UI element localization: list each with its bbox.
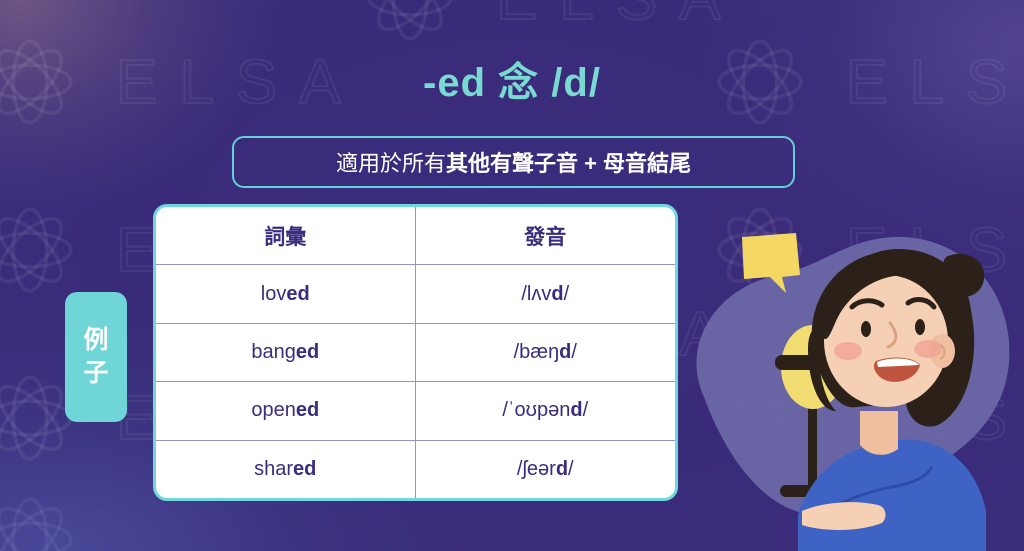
eye-right	[915, 319, 925, 335]
subtitle-emphasis: 其他有聲子音 + 母音結尾	[446, 151, 691, 176]
column-header-word: 詞彙	[156, 207, 416, 264]
neck	[860, 411, 898, 455]
elsa-flower-star-icon	[0, 480, 90, 551]
word-suffix: ed	[296, 399, 319, 422]
table-header-row: 詞彙 發音	[156, 207, 675, 265]
ipa-bold: d	[551, 283, 563, 306]
illustration-svg	[670, 215, 1024, 551]
word-stem: open	[251, 399, 296, 422]
cell-pronunciation: /ˈoʊpənd/	[416, 382, 676, 439]
ipa-prefix: /bæŋ	[514, 341, 560, 364]
example-badge-char-2: 子	[83, 360, 108, 388]
rule-subtitle-box: 適用於所有其他有聲子音 + 母音結尾	[232, 136, 795, 188]
examples-table: 詞彙 發音 loved /lʌvd/ banged /bæŋd/ opened …	[153, 204, 678, 501]
slide-canvas: ELSA ELSA ELSA	[0, 0, 1024, 551]
ipa-bold: d	[556, 458, 568, 481]
word-suffix: ed	[286, 283, 309, 306]
cell-word: shared	[156, 441, 416, 498]
watermark-unit	[0, 480, 90, 551]
cell-word: banged	[156, 324, 416, 381]
ipa-suffix: /	[583, 399, 589, 422]
ipa-prefix: /ˈoʊpən	[502, 399, 570, 422]
table-row: shared /ʃeərd/	[156, 441, 675, 498]
page-title: -ed 念 /d/	[0, 50, 1024, 108]
rule-subtitle-text: 適用於所有其他有聲子音 + 母音結尾	[336, 146, 691, 178]
example-badge-char-1: 例	[83, 327, 108, 355]
cell-word: loved	[156, 265, 416, 322]
word-stem: shar	[254, 458, 293, 481]
ipa-suffix: /	[568, 458, 574, 481]
subtitle-prefix: 適用於所有	[336, 151, 446, 176]
watermark-text: ELSA	[496, 0, 743, 34]
cell-pronunciation: /bæŋd/	[416, 324, 676, 381]
word-suffix: ed	[296, 341, 319, 364]
ipa-bold: d	[570, 399, 582, 422]
ipa-suffix: /	[571, 341, 577, 364]
ipa-prefix: /ʃeər	[517, 458, 556, 481]
ipa-suffix: /	[564, 283, 570, 306]
cell-pronunciation: /ʃeərd/	[416, 441, 676, 498]
cell-pronunciation: /lʌvd/	[416, 265, 676, 322]
word-stem: bang	[251, 341, 296, 364]
illustration-woman-with-microphone	[670, 215, 1024, 551]
column-header-pronunciation: 發音	[416, 207, 676, 264]
table-row: loved /lʌvd/	[156, 265, 675, 323]
ipa-prefix: /lʌv	[521, 283, 551, 306]
eye-left	[861, 321, 871, 337]
cheek-right	[914, 340, 942, 358]
table-row: opened /ˈoʊpənd/	[156, 382, 675, 440]
word-suffix: ed	[293, 458, 316, 481]
word-stem: lov	[261, 283, 287, 306]
example-badge: 例 子	[65, 292, 127, 422]
cheek-left	[834, 342, 862, 360]
ipa-bold: d	[559, 341, 571, 364]
table-row: banged /bæŋd/	[156, 324, 675, 382]
cell-word: opened	[156, 382, 416, 439]
